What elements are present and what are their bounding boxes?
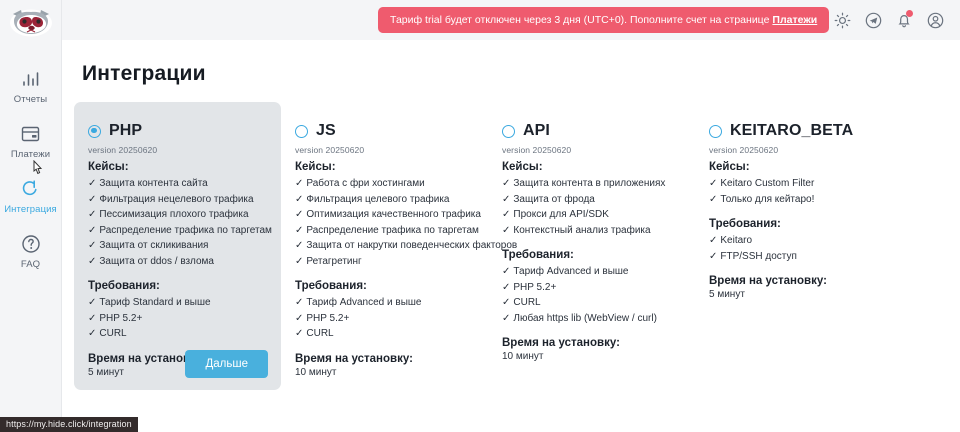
feature-item: ✓Защита контента в приложениях bbox=[502, 176, 681, 192]
card-header: PHP bbox=[88, 122, 267, 140]
check-icon: ✓ bbox=[88, 209, 96, 220]
check-icon: ✓ bbox=[502, 297, 510, 308]
feature-item: ✓Тариф Advanced и выше bbox=[295, 295, 474, 311]
feature-list: ✓Работа с фри хостингами✓Фильтрация целе… bbox=[295, 176, 474, 269]
integration-card[interactable]: APIversion 20250620Кейсы:✓Защита контент… bbox=[488, 102, 695, 390]
page-title: Интеграции bbox=[82, 62, 960, 86]
feature-label: Фильтрация нецелевого трафика bbox=[99, 194, 253, 205]
feature-item: ✓PHP 5.2+ bbox=[295, 311, 474, 327]
next-button[interactable]: Дальше bbox=[185, 350, 268, 378]
sidebar-item-label: Платежи bbox=[11, 149, 50, 160]
section-title: Кейсы: bbox=[709, 161, 888, 173]
feature-label: CURL bbox=[306, 328, 333, 339]
check-icon: ✓ bbox=[295, 178, 303, 189]
feature-label: PHP 5.2+ bbox=[513, 282, 556, 293]
feature-item: ✓Ретагретинг bbox=[295, 254, 474, 270]
feature-label: CURL bbox=[99, 328, 126, 339]
section-title: Требования: bbox=[502, 249, 681, 261]
feature-label: Ретагретинг bbox=[306, 256, 361, 267]
feature-item: ✓Любая https lib (WebView / curl) bbox=[502, 311, 681, 327]
feature-item: ✓Тариф Advanced и выше bbox=[502, 264, 681, 280]
sidebar-nav: Отчеты Платежи bbox=[0, 59, 61, 279]
check-icon: ✓ bbox=[502, 225, 510, 236]
feature-label: Любая https lib (WebView / curl) bbox=[513, 313, 657, 324]
feature-list: ✓Тариф Advanced и выше✓PHP 5.2+✓CURL✓Люб… bbox=[502, 264, 681, 326]
check-icon: ✓ bbox=[709, 194, 717, 205]
check-icon: ✓ bbox=[709, 235, 717, 246]
feature-list: ✓Защита контента сайта✓Фильтрация нецеле… bbox=[88, 176, 267, 269]
integration-card[interactable]: PHPversion 20250620Кейсы:✓Защита контент… bbox=[74, 102, 281, 390]
feature-label: Защита от скликивания bbox=[99, 240, 208, 251]
account-icon[interactable] bbox=[926, 11, 944, 29]
feature-label: PHP 5.2+ bbox=[99, 313, 142, 324]
sidebar-item-label: FAQ bbox=[21, 259, 40, 270]
sidebar-item-faq[interactable]: FAQ bbox=[0, 224, 61, 279]
feature-list: ✓Keitaro✓FTP/SSH доступ bbox=[709, 233, 888, 264]
feature-item: ✓CURL bbox=[88, 326, 267, 342]
check-icon: ✓ bbox=[502, 313, 510, 324]
section-title: Кейсы: bbox=[88, 161, 267, 173]
feature-label: Защита контента в приложениях bbox=[513, 178, 665, 189]
install-time-value: 10 минут bbox=[295, 367, 474, 378]
sidebar-item-label: Интеграция bbox=[4, 204, 57, 215]
feature-label: PHP 5.2+ bbox=[306, 313, 349, 324]
check-icon: ✓ bbox=[88, 194, 96, 205]
feature-label: Защита от фрода bbox=[513, 194, 594, 205]
feature-item: ✓Пессимизация плохого трафика bbox=[88, 207, 267, 223]
telegram-icon[interactable] bbox=[864, 11, 882, 29]
install-time-value: 5 минут bbox=[709, 289, 888, 300]
card-title: API bbox=[523, 122, 550, 140]
card-title: JS bbox=[316, 122, 336, 140]
feature-item: ✓Фильтрация целевого трафика bbox=[295, 192, 474, 208]
feature-item: ✓Только для кейтаро! bbox=[709, 192, 888, 208]
integration-card[interactable]: JSversion 20250620Кейсы:✓Работа с фри хо… bbox=[281, 102, 488, 390]
feature-label: Пессимизация плохого трафика bbox=[99, 209, 248, 220]
sidebar-item-platezhi[interactable]: Платежи bbox=[0, 114, 61, 169]
check-icon: ✓ bbox=[295, 313, 303, 324]
feature-item: ✓PHP 5.2+ bbox=[88, 311, 267, 327]
sidebar: Отчеты Платежи bbox=[0, 0, 62, 432]
feature-item: ✓Фильтрация нецелевого трафика bbox=[88, 192, 267, 208]
feature-item: ✓PHP 5.2+ bbox=[502, 280, 681, 296]
feature-label: Прокси для API/SDK bbox=[513, 209, 608, 220]
feature-item: ✓Оптимизация качественного трафика bbox=[295, 207, 474, 223]
integration-icon bbox=[20, 178, 41, 200]
integration-cards: PHPversion 20250620Кейсы:✓Защита контент… bbox=[62, 102, 960, 390]
check-icon: ✓ bbox=[295, 194, 303, 205]
check-icon: ✓ bbox=[295, 225, 303, 236]
check-icon: ✓ bbox=[502, 194, 510, 205]
feature-label: Keitaro bbox=[720, 235, 752, 246]
sidebar-item-otchety[interactable]: Отчеты bbox=[0, 59, 61, 114]
sun-icon[interactable] bbox=[833, 11, 851, 29]
feature-item: ✓Keitaro bbox=[709, 233, 888, 249]
feature-item: ✓Работа с фри хостингами bbox=[295, 176, 474, 192]
feature-label: Только для кейтаро! bbox=[720, 194, 814, 205]
feature-label: Работа с фри хостингами bbox=[306, 178, 424, 189]
check-icon: ✓ bbox=[295, 256, 303, 267]
card-title: PHP bbox=[109, 122, 142, 140]
check-icon: ✓ bbox=[88, 178, 96, 189]
raccoon-logo[interactable] bbox=[8, 7, 54, 37]
card-title: KEITARO_BETA bbox=[730, 122, 853, 140]
feature-item: ✓Контекстный анализ трафика bbox=[502, 223, 681, 239]
check-icon: ✓ bbox=[295, 209, 303, 220]
feature-label: Тариф Advanced и выше bbox=[306, 297, 421, 308]
feature-label: Защита контента сайта bbox=[99, 178, 207, 189]
feature-item: ✓CURL bbox=[295, 326, 474, 342]
check-icon: ✓ bbox=[295, 240, 303, 251]
check-icon: ✓ bbox=[88, 240, 96, 251]
section-title: Требования: bbox=[88, 280, 267, 292]
main-content: Интеграции PHPversion 20250620Кейсы:✓Защ… bbox=[62, 40, 960, 432]
section-title: Кейсы: bbox=[502, 161, 681, 173]
feature-label: Тариф Standard и выше bbox=[99, 297, 210, 308]
app-root: Отчеты Платежи bbox=[0, 0, 960, 432]
feature-label: Защита от ddos / взлома bbox=[99, 256, 214, 267]
card-header: KEITARO_BETA bbox=[709, 122, 888, 140]
check-icon: ✓ bbox=[709, 178, 717, 189]
feature-item: ✓Защита контента сайта bbox=[88, 176, 267, 192]
sidebar-item-integraciya[interactable]: Интеграция bbox=[0, 169, 61, 224]
card-icon bbox=[20, 123, 41, 145]
check-icon: ✓ bbox=[709, 251, 717, 262]
sidebar-item-label: Отчеты bbox=[14, 94, 47, 105]
radio-button-icon[interactable] bbox=[88, 125, 101, 138]
feature-item: ✓Распределение трафика по таргетам bbox=[88, 223, 267, 239]
feature-item: ✓Keitaro Custom Filter bbox=[709, 176, 888, 192]
section-title: Время на установку: bbox=[502, 337, 681, 349]
notification-badge bbox=[906, 10, 913, 17]
section-title: Время на установку: bbox=[709, 275, 888, 287]
check-icon: ✓ bbox=[502, 178, 510, 189]
feature-label: CURL bbox=[513, 297, 540, 308]
check-icon: ✓ bbox=[502, 266, 510, 277]
bell-icon[interactable] bbox=[895, 11, 913, 29]
feature-item: ✓Защита от фрода bbox=[502, 192, 681, 208]
integration-card[interactable]: KEITARO_BETAversion 20250620Кейсы:✓Keita… bbox=[695, 102, 902, 390]
check-icon: ✓ bbox=[502, 209, 510, 220]
card-version: version 20250620 bbox=[709, 145, 888, 155]
feature-label: Тариф Advanced и выше bbox=[513, 266, 628, 277]
feature-list: ✓Тариф Advanced и выше✓PHP 5.2+✓CURL bbox=[295, 295, 474, 342]
section-title: Требования: bbox=[709, 218, 888, 230]
feature-label: Распределение трафика по таргетам bbox=[99, 225, 272, 236]
radio-button-icon[interactable] bbox=[709, 125, 722, 138]
check-icon: ✓ bbox=[88, 256, 96, 267]
feature-item: ✓Защита от ddos / взлома bbox=[88, 254, 267, 270]
alert-payments-link[interactable]: Платежи bbox=[772, 14, 817, 26]
check-icon: ✓ bbox=[295, 328, 303, 339]
check-icon: ✓ bbox=[88, 225, 96, 236]
feature-label: Контекстный анализ трафика bbox=[513, 225, 650, 236]
feature-list: ✓Keitaro Custom Filter✓Только для кейтар… bbox=[709, 176, 888, 207]
feature-item: ✓Распределение трафика по таргетам bbox=[295, 223, 474, 239]
check-icon: ✓ bbox=[88, 297, 96, 308]
feature-item: ✓Защита от скликивания bbox=[88, 238, 267, 254]
card-header: JS bbox=[295, 122, 474, 140]
trial-alert-banner: Тариф trial будет отключен через 3 дня (… bbox=[378, 7, 829, 33]
check-icon: ✓ bbox=[88, 328, 96, 339]
check-icon: ✓ bbox=[88, 313, 96, 324]
browser-status-url: https://my.hide.click/integration bbox=[0, 417, 138, 432]
feature-label: FTP/SSH доступ bbox=[720, 251, 797, 262]
feature-list: ✓Защита контента в приложениях✓Защита от… bbox=[502, 176, 681, 238]
feature-label: Распределение трафика по таргетам bbox=[306, 225, 479, 236]
check-icon: ✓ bbox=[502, 282, 510, 293]
check-icon: ✓ bbox=[295, 297, 303, 308]
section-title: Кейсы: bbox=[295, 161, 474, 173]
section-title: Требования: bbox=[295, 280, 474, 292]
feature-item: ✓Прокси для API/SDK bbox=[502, 207, 681, 223]
alert-text: Тариф trial будет отключен через 3 дня (… bbox=[390, 14, 769, 26]
radio-button-icon[interactable] bbox=[502, 125, 515, 138]
feature-list: ✓Тариф Standard и выше✓PHP 5.2+✓CURL bbox=[88, 295, 267, 342]
bar-chart-icon bbox=[21, 68, 41, 90]
feature-label: Keitaro Custom Filter bbox=[720, 178, 814, 189]
feature-label: Защита от накрутки поведенческих факторо… bbox=[306, 240, 517, 251]
topbar: Тариф trial будет отключен через 3 дня (… bbox=[62, 0, 960, 40]
feature-item: ✓Защита от накрутки поведенческих фактор… bbox=[295, 238, 474, 254]
question-circle-icon bbox=[21, 233, 41, 255]
card-version: version 20250620 bbox=[88, 145, 267, 155]
install-time-value: 10 минут bbox=[502, 351, 681, 362]
section-title: Время на установку: bbox=[295, 353, 474, 365]
feature-label: Оптимизация качественного трафика bbox=[306, 209, 481, 220]
feature-item: ✓CURL bbox=[502, 295, 681, 311]
card-header: API bbox=[502, 122, 681, 140]
feature-item: ✓Тариф Standard и выше bbox=[88, 295, 267, 311]
card-version: version 20250620 bbox=[295, 145, 474, 155]
feature-label: Фильтрация целевого трафика bbox=[306, 194, 449, 205]
card-version: version 20250620 bbox=[502, 145, 681, 155]
radio-button-icon[interactable] bbox=[295, 125, 308, 138]
feature-item: ✓FTP/SSH доступ bbox=[709, 249, 888, 265]
